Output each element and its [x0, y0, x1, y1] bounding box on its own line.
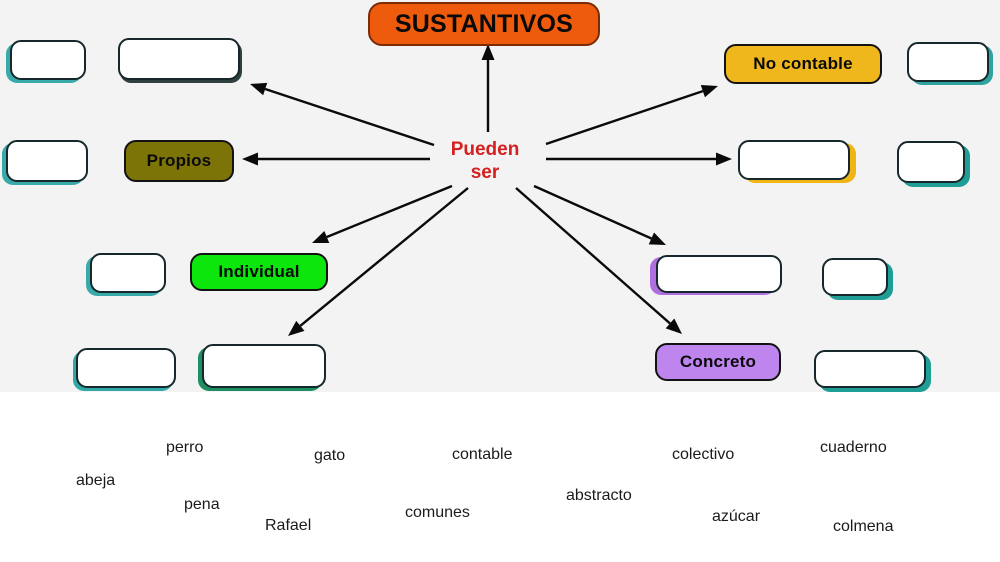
center-label-line2: ser — [430, 161, 540, 184]
draggable-word-azúcar[interactable]: azúcar — [712, 508, 760, 526]
drop-target-drop-7[interactable] — [90, 253, 166, 293]
draggable-word-contable[interactable]: contable — [452, 446, 513, 464]
draggable-word-rafael[interactable]: Rafael — [265, 517, 311, 535]
drop-target-drop-5[interactable] — [738, 140, 850, 180]
drop-target-drop-8[interactable] — [656, 255, 782, 293]
arrow-to-drop-2 — [265, 89, 434, 145]
draggable-word-comunes[interactable]: comunes — [405, 504, 470, 522]
arrow-to-title-head — [482, 44, 495, 60]
draggable-word-colmena[interactable]: colmena — [833, 518, 893, 536]
concept-map-area: SUSTANTIVOS Pueden ser No contablePropio… — [0, 0, 1000, 392]
arrow-to-drop-5-head — [716, 153, 732, 166]
node-no-contable[interactable]: No contable — [724, 44, 882, 84]
arrow-to-concreto — [516, 188, 670, 323]
node-propios[interactable]: Propios — [124, 140, 234, 182]
draggable-word-cuaderno[interactable]: cuaderno — [820, 439, 887, 457]
arrow-to-drop-8-head — [649, 233, 666, 245]
drop-target-drop-6[interactable] — [897, 141, 965, 183]
drop-target-drop-3[interactable] — [907, 42, 989, 82]
arrow-to-propios-head — [242, 153, 258, 166]
arrow-to-individual — [327, 186, 452, 237]
draggable-word-colectivo[interactable]: colectivo — [672, 446, 734, 464]
arrow-to-individual-head — [312, 231, 329, 243]
drop-target-drop-11[interactable] — [202, 344, 326, 388]
drop-target-drop-1[interactable] — [10, 40, 86, 80]
draggable-word-pena[interactable]: pena — [184, 496, 220, 514]
arrow-to-no-contable — [546, 91, 703, 144]
draggable-word-abstracto[interactable]: abstracto — [566, 487, 632, 505]
arrow-to-no-contable-head — [701, 85, 718, 97]
center-label-pueden-ser: Pueden ser — [430, 138, 540, 184]
arrow-to-drop-2-head — [250, 83, 267, 95]
drop-target-drop-12[interactable] — [814, 350, 926, 388]
activity-canvas: SUSTANTIVOS Pueden ser No contablePropio… — [0, 0, 1000, 562]
word-bank: abejaperrogatocontablecolectivocuadernop… — [0, 392, 1000, 562]
draggable-word-perro[interactable]: perro — [166, 439, 203, 457]
diagram-title-sustantivos: SUSTANTIVOS — [368, 2, 600, 46]
draggable-word-abeja[interactable]: abeja — [76, 472, 115, 490]
drop-target-drop-2[interactable] — [118, 38, 240, 80]
drop-target-drop-10[interactable] — [76, 348, 176, 388]
draggable-word-gato[interactable]: gato — [314, 447, 345, 465]
drop-target-drop-4[interactable] — [6, 140, 88, 182]
drop-target-drop-9[interactable] — [822, 258, 888, 296]
arrow-to-drop-8 — [534, 186, 651, 238]
center-label-line1: Pueden — [430, 138, 540, 161]
node-individual[interactable]: Individual — [190, 253, 328, 291]
node-concreto[interactable]: Concreto — [655, 343, 781, 381]
